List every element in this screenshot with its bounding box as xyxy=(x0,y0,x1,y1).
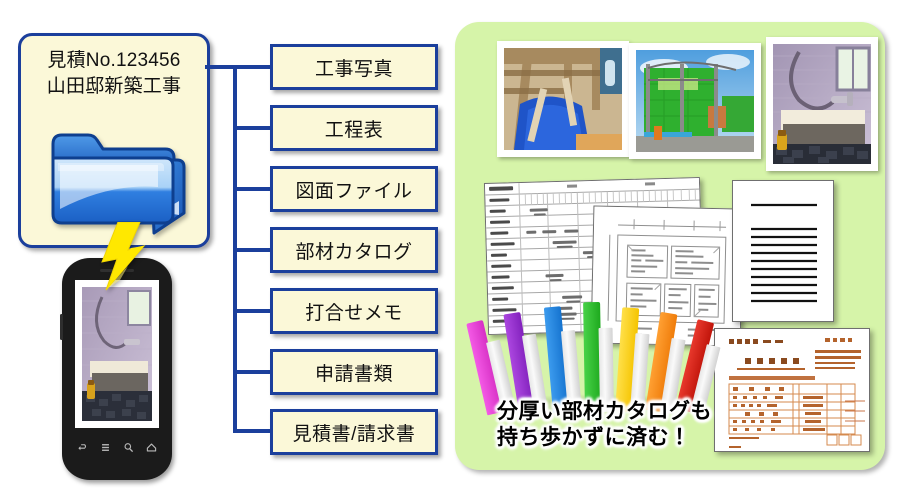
category-box-schedule[interactable]: 工程表 xyxy=(270,105,438,151)
category-label: 申請書類 xyxy=(315,359,393,386)
category-label: 打合せメモ xyxy=(305,298,403,325)
caption-line2: 持ち歩かずに済む！ xyxy=(497,425,737,451)
category-label: 図面ファイル xyxy=(295,176,412,203)
diagram-canvas: 見積No.123456 山田邸新築工事 xyxy=(0,0,900,490)
construction-framing-photo xyxy=(497,41,629,157)
category-box-drawing-files[interactable]: 図面ファイル xyxy=(270,166,438,212)
category-label: 見積書/請求書 xyxy=(293,419,416,446)
panel-caption: 分厚い部材カタログも 持ち歩かずに済む！ xyxy=(497,399,737,450)
project-title-line1: 見積No.123456 xyxy=(21,48,207,74)
category-label: 工程表 xyxy=(325,115,384,142)
caption-line1: 分厚い部材カタログも xyxy=(497,399,737,425)
category-box-application-documents[interactable]: 申請書類 xyxy=(270,349,438,395)
back-icon[interactable] xyxy=(77,442,88,453)
category-box-parts-catalog[interactable]: 部材カタログ xyxy=(270,227,438,273)
meeting-memo-document xyxy=(732,180,834,322)
home-icon[interactable] xyxy=(146,442,157,453)
binder-green xyxy=(583,302,615,413)
menu-icon[interactable] xyxy=(100,442,111,453)
category-box-construction-photos[interactable]: 工事写真 xyxy=(270,44,438,90)
phone-side-button xyxy=(60,314,63,340)
phone-navigation-bar[interactable] xyxy=(62,436,172,458)
project-title: 見積No.123456 山田邸新築工事 xyxy=(21,48,207,99)
category-box-quotation-invoice[interactable]: 見積書/請求書 xyxy=(270,409,438,455)
category-label: 部材カタログ xyxy=(295,237,412,264)
project-folder-card[interactable]: 見積No.123456 山田邸新築工事 xyxy=(18,33,210,248)
lightning-bolt-icon xyxy=(84,222,180,306)
search-icon[interactable] xyxy=(123,442,134,453)
project-title-line2: 山田邸新築工事 xyxy=(21,74,207,100)
category-box-meeting-memo[interactable]: 打合せメモ xyxy=(270,288,438,334)
scaffolding-green-net-photo xyxy=(629,43,761,159)
bathroom-interior-photo xyxy=(766,37,878,171)
parts-catalog-binders xyxy=(487,302,713,412)
invoice-form-document xyxy=(714,328,870,452)
category-label: 工事写真 xyxy=(315,54,393,81)
bathroom-photo-on-screen xyxy=(82,287,152,421)
